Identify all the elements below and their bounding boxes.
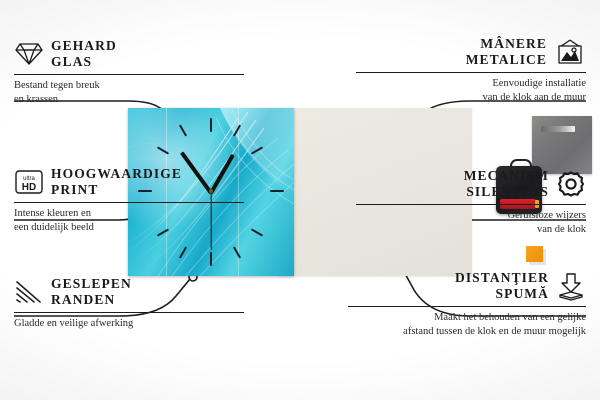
feature-mecanism-silentios: MECANISM SILENŢIOS Geruisloze wijzers va… <box>356 168 586 237</box>
title-line-1: MÂNERE <box>466 36 547 52</box>
metal-hanger-plate <box>532 116 592 174</box>
tick-6 <box>210 252 212 266</box>
infographic-canvas: GEHARD GLAS Bestand tegen breuk en krass… <box>0 0 600 400</box>
feature-title: MECANISM SILENŢIOS <box>464 168 549 201</box>
title-line-2: PRINT <box>51 182 182 198</box>
title-line-1: GEHARD <box>51 38 117 54</box>
feature-subtitle: Bestand tegen breuk en krassen <box>14 79 244 107</box>
svg-text:HD: HD <box>22 182 36 193</box>
subtitle-line-1: Eenvoudige installatie <box>356 77 586 91</box>
feature-title: GEHARD GLAS <box>51 38 117 71</box>
feature-rule <box>356 204 586 205</box>
feature-rule <box>356 72 586 73</box>
feature-header: GEHARD GLAS <box>14 38 244 71</box>
title-line-2: METALICE <box>466 52 547 68</box>
feature-title: MÂNERE METALICE <box>466 36 547 69</box>
feature-hoogwaardige-print: ultra HD HOOGWAARDIGE PRINT Intense kleu… <box>14 166 244 235</box>
feature-subtitle: Intense kleuren en een duidelijk beeld <box>14 207 244 235</box>
feature-title: GESLEPEN RANDEN <box>51 276 132 309</box>
feature-subtitle: Geruisloze wijzers van de klok <box>356 209 586 237</box>
feature-header: DISTANŢIER SPUMĂ <box>348 270 586 303</box>
title-line-2: RANDEN <box>51 292 132 308</box>
foam-spacer-pad <box>526 246 543 262</box>
feature-rule <box>348 306 586 307</box>
feature-subtitle: Eenvoudige installatie van de klok aan d… <box>356 77 586 105</box>
gear-icon <box>556 169 586 199</box>
feature-header: MECANISM SILENŢIOS <box>356 168 586 201</box>
subtitle-line-1: Bestand tegen breuk <box>14 79 244 93</box>
feature-header: ultra HD HOOGWAARDIGE PRINT <box>14 166 244 199</box>
subtitle-line-2: en krassen <box>14 93 244 107</box>
feature-subtitle: Maakt het behouden van een gelijke afsta… <box>348 311 586 339</box>
diamond-icon <box>14 41 44 67</box>
feature-gehard-glas: GEHARD GLAS Bestand tegen breuk en krass… <box>14 38 244 107</box>
subtitle-line-1: Geruisloze wijzers <box>356 209 586 223</box>
subtitle-line-2: afstand tussen de klok en de muur mogeli… <box>348 325 586 339</box>
feature-title: DISTANŢIER SPUMĂ <box>455 270 549 303</box>
picture-frame-hanger-icon <box>554 38 586 66</box>
title-line-1: DISTANŢIER <box>455 270 549 286</box>
ultra-hd-icon: ultra HD <box>14 168 44 196</box>
subtitle-line-2: een duidelijk beeld <box>14 221 244 235</box>
title-line-2: SILENŢIOS <box>464 184 549 200</box>
spacer-arrow-icon <box>556 271 586 301</box>
subtitle-line-2: van de klok aan de muur <box>356 91 586 105</box>
feature-rule <box>14 312 244 313</box>
feature-header: MÂNERE METALICE <box>356 36 586 69</box>
feature-manere-metalice: MÂNERE METALICE Eenvoudige installatie v… <box>356 36 586 105</box>
title-line-1: HOOGWAARDIGE <box>51 166 182 182</box>
beveled-edge-icon <box>14 279 44 305</box>
title-line-2: GLAS <box>51 54 117 70</box>
subtitle-line-1: Maakt het behouden van een gelijke <box>348 311 586 325</box>
subtitle-line-2: van de klok <box>356 223 586 237</box>
title-line-1: GESLEPEN <box>51 276 132 292</box>
tick-12 <box>210 118 212 132</box>
feature-rule <box>14 202 244 203</box>
feature-geslepen-randen: GESLEPEN RANDEN Gladde en veilige afwerk… <box>14 276 244 331</box>
title-line-1: MECANISM <box>464 168 549 184</box>
tick-3 <box>270 190 284 192</box>
hanger-slot <box>541 126 575 132</box>
feature-title: HOOGWAARDIGE PRINT <box>51 166 182 199</box>
subtitle-line-1: Intense kleuren en <box>14 207 244 221</box>
feature-rule <box>14 74 244 75</box>
title-line-2: SPUMĂ <box>455 286 549 302</box>
feature-subtitle: Gladde en veilige afwerking <box>14 317 244 331</box>
feature-header: GESLEPEN RANDEN <box>14 276 244 309</box>
subtitle-line-1: Gladde en veilige afwerking <box>14 317 244 331</box>
feature-distantier-spuma: DISTANŢIER SPUMĂ Maakt het behouden van … <box>348 270 586 339</box>
